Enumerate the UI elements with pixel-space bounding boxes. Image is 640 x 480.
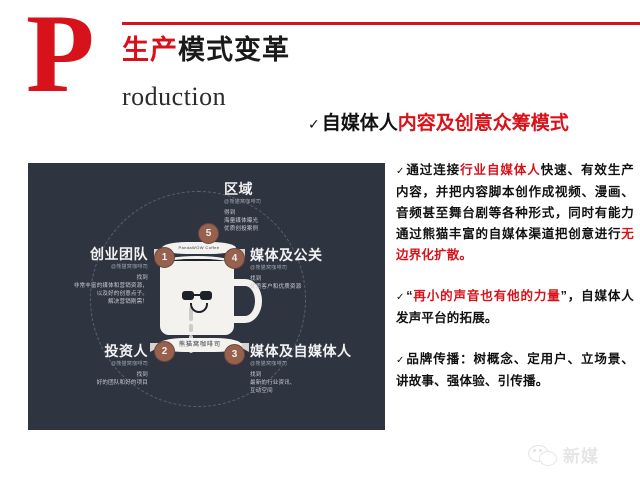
watermark-label: 新媒 bbox=[563, 442, 599, 467]
node-badge-3[interactable]: 3 bbox=[224, 344, 245, 365]
node-title: 区域 bbox=[224, 181, 339, 197]
wechat-icon bbox=[528, 443, 558, 465]
watermark: 新媒 bbox=[528, 437, 632, 471]
bullet-list: ✓通过连接行业自媒体人快速、有效生产内容，并把内容脚本创作成视频、漫画、音频甚至… bbox=[396, 160, 634, 412]
node-badge-4[interactable]: 4 bbox=[224, 248, 245, 269]
check-icon: ✓ bbox=[308, 116, 320, 132]
infographic-node-region[interactable]: 区域 @熊猫窝咖啡司 得到 海量媒体曝光 优质创投案例 bbox=[224, 181, 339, 233]
node-detail: 找到 非常丰富的媒体和营销资源， 以及好的创意点子。 解决营销刚需！ bbox=[36, 274, 148, 306]
check-icon: ✓ bbox=[396, 292, 405, 303]
infographic-node-startup-team[interactable]: 创业团队 @熊猫窝咖啡司 找到 非常丰富的媒体和营销资源， 以及好的创意点子。 … bbox=[36, 246, 148, 306]
node-title: 媒体及自媒体人 bbox=[250, 343, 382, 359]
drop-cap-letter: P bbox=[26, 6, 92, 102]
mug-stripe bbox=[189, 324, 193, 332]
node-title: 创业团队 bbox=[36, 246, 148, 262]
title-english: roduction bbox=[122, 82, 226, 112]
title-cn-red: 生产 bbox=[122, 35, 178, 65]
page-title: 生产模式变革 bbox=[122, 28, 290, 67]
infographic-panel: PandaWOW Coffee 熊猫窝咖啡司 区域 @熊猫窝咖啡司 得到 海量媒… bbox=[28, 163, 385, 430]
node-detail: 找到 最新的行业资讯、 互动空间 bbox=[250, 371, 382, 395]
check-icon: ✓ bbox=[396, 355, 405, 366]
body-text: 通过连接 bbox=[406, 163, 460, 177]
node-handle: @熊猫窝咖啡司 bbox=[36, 360, 148, 368]
highlight-text: 再小的声音也有他的力量 bbox=[413, 289, 561, 303]
node-handle: @熊猫窝咖啡司 bbox=[250, 360, 382, 368]
node-handle: @熊猫窝咖啡司 bbox=[250, 264, 380, 272]
node-handle: @熊猫窝咖啡司 bbox=[224, 198, 339, 206]
infographic-node-media-pr[interactable]: 媒体及公关 @熊猫窝咖啡司 找到 优质客户和优质资源 bbox=[250, 247, 380, 291]
title-cn-black: 模式变革 bbox=[178, 35, 290, 65]
infographic-node-media-selfmedia[interactable]: 媒体及自媒体人 @熊猫窝咖啡司 找到 最新的行业资讯、 互动空间 bbox=[250, 343, 382, 395]
node-badge-5[interactable]: 5 bbox=[198, 223, 219, 244]
bullet-paragraph: ✓品牌传播：树概念、定用户、立场景、讲故事、强体验、引传播。 bbox=[396, 349, 634, 392]
node-badge-1[interactable]: 1 bbox=[154, 247, 175, 268]
infographic-node-investor[interactable]: 投资人 @熊猫窝咖啡司 找到 好的团队和好的项目 bbox=[36, 343, 148, 387]
slide-canvas: P 生产模式变革 roduction ✓自媒体人内容及创意众筹模式 PandaW… bbox=[0, 0, 640, 480]
bullet-paragraph: ✓“再小的声音也有他的力量”，自媒体人发声平台的拓展。 bbox=[396, 286, 634, 329]
highlight-text: 行业自媒体人 bbox=[460, 163, 541, 177]
node-handle: @熊猫窝咖啡司 bbox=[36, 263, 148, 271]
subheading-black: 自媒体人 bbox=[322, 113, 398, 134]
sunglasses-icon bbox=[182, 291, 212, 300]
node-detail: 找到 优质客户和优质资源 bbox=[250, 275, 380, 291]
node-badge-2[interactable]: 2 bbox=[154, 341, 175, 362]
header-divider bbox=[122, 22, 640, 25]
subheading: ✓自媒体人内容及创意众筹模式 bbox=[308, 108, 640, 135]
node-title: 媒体及公关 bbox=[250, 247, 380, 263]
node-detail: 得到 海量媒体曝光 优质创投案例 bbox=[224, 209, 339, 233]
node-title: 投资人 bbox=[36, 343, 148, 359]
body-text: 品牌传播：树概念、定用户、立场景、讲故事、强体验、引传播。 bbox=[396, 352, 634, 388]
subheading-red: 内容及创意众筹模式 bbox=[398, 113, 569, 134]
node-detail: 找到 好的团队和好的项目 bbox=[36, 371, 148, 387]
check-icon: ✓ bbox=[396, 166, 405, 177]
bullet-paragraph: ✓通过连接行业自媒体人快速、有效生产内容，并把内容脚本创作成视频、漫画、音频甚至… bbox=[396, 160, 634, 266]
